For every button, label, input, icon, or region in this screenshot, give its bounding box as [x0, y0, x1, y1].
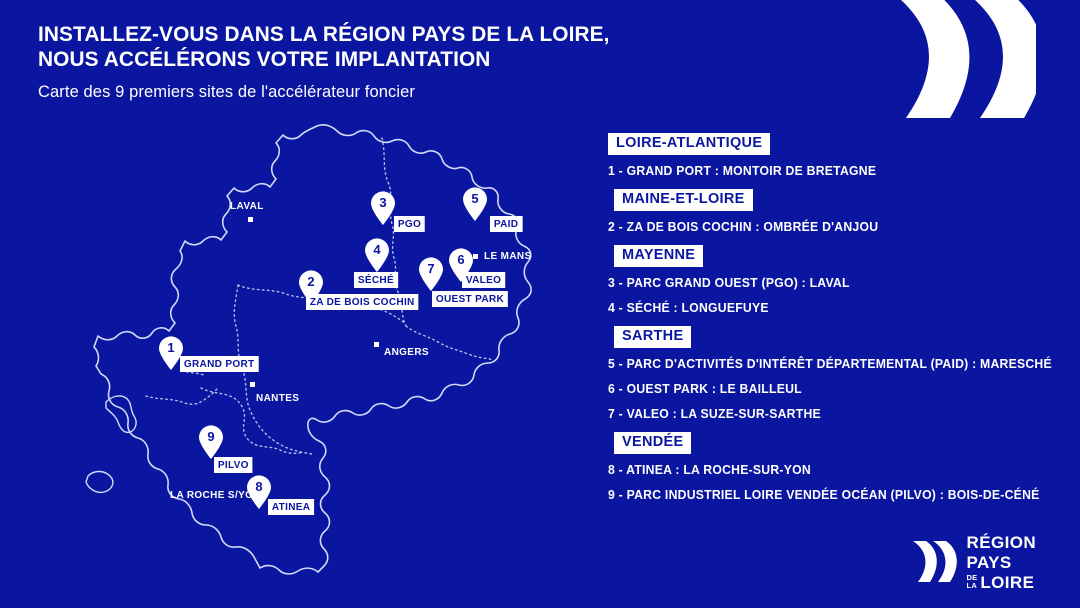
map-pin-4-number: 4 [364, 241, 390, 258]
logo-line-de-la-loire: DE LA LOIRE [967, 574, 1036, 591]
city-label-le-mans: LE MANS [484, 250, 532, 262]
logo-word-la: LA [967, 582, 978, 590]
corner-chevron-decoration [876, 0, 1036, 122]
double-chevron-icon [876, 0, 1036, 122]
dept-badge-mayenne: MAYENNE [614, 245, 703, 267]
city-label-angers: ANGERS [384, 346, 429, 358]
legend-group-mayenne: MAYENNE 3 - PARC GRAND OUEST (PGO) : LAV… [608, 245, 1048, 316]
legend-entry-6: 6 - OUEST PARK : LE BAILLEUL [608, 382, 1035, 397]
map-pin-6-number: 6 [448, 251, 474, 268]
legend-entry-4: 4 - SÉCHÉ : LONGUEFUYE [608, 301, 1035, 316]
city-dot-laval [248, 217, 253, 222]
map-pin-1-number: 1 [158, 339, 184, 356]
site-label-pilvo: PILVO [214, 457, 253, 473]
site-label-ouest-park: OUEST PARK [432, 291, 508, 307]
city-label-nantes: NANTES [256, 392, 299, 404]
legend-entry-3: 3 - PARC GRAND OUEST (PGO) : LAVAL [608, 276, 1035, 291]
map-pin-3-number: 3 [370, 194, 396, 211]
page-subtitle: Carte des 9 premiers sites de l'accéléra… [38, 82, 758, 102]
legend-entry-1: 1 - GRAND PORT : MONTOIR DE BRETAGNE [608, 164, 1035, 179]
map-pin-3[interactable]: 3 [370, 191, 396, 225]
legend-group-maine-et-loire: MAINE-ET-LOIRE 2 - ZA DE BOIS COCHIN : O… [608, 189, 1048, 235]
logo-text: RÉGION PAYS DE LA LOIRE [967, 534, 1036, 591]
logo-line-pays: PAYS [967, 554, 1036, 571]
legend-entry-7: 7 - VALEO : LA SUZE-SUR-SARTHE [608, 407, 1035, 422]
map-pin-5[interactable]: 5 [462, 187, 488, 221]
legend-group-loire-atlantique: LOIRE-ATLANTIQUE 1 - GRAND PORT : MONTOI… [608, 133, 1048, 179]
site-label-grand-port: GRAND PORT [180, 356, 258, 372]
map-pin-8-number: 8 [246, 478, 272, 495]
logo-de-la: DE LA [967, 574, 978, 590]
city-dot-angers [374, 342, 379, 347]
map-pin-4[interactable]: 4 [364, 238, 390, 272]
map-pin-7-number: 7 [418, 260, 444, 277]
map-pin-7[interactable]: 7 [418, 257, 444, 291]
map-pin-9-number: 9 [198, 428, 224, 445]
legend-entry-5: 5 - PARC D'ACTIVITÉS D'INTÉRÊT DÉPARTEME… [608, 357, 1035, 372]
map-pin-5-number: 5 [462, 190, 488, 207]
site-label-atinea: ATINEA [268, 499, 314, 515]
site-label-pgo: PGO [394, 216, 425, 232]
dept-badge-loire-atlantique: LOIRE-ATLANTIQUE [608, 133, 770, 155]
site-label-za-de-bois-cochin: ZA DE BOIS COCHIN [306, 294, 418, 310]
page-title-line-2: NOUS ACCÉLÉRONS VOTRE IMPLANTATION [38, 47, 736, 72]
legend-group-sarthe: SARTHE 5 - PARC D'ACTIVITÉS D'INTÉRÊT DÉ… [608, 326, 1048, 422]
logo-word-loire: LOIRE [980, 574, 1034, 591]
legend-group-vendee: VENDÉE 8 - ATINEA : LA ROCHE-SUR-YON 9 -… [608, 432, 1048, 503]
site-label-paid: PAID [490, 216, 522, 232]
city-dot-nantes [250, 382, 255, 387]
header: INSTALLEZ-VOUS DANS LA RÉGION PAYS DE LA… [38, 22, 758, 102]
infographic-root: INSTALLEZ-VOUS DANS LA RÉGION PAYS DE LA… [0, 0, 1080, 608]
site-label-seche: SÉCHÉ [354, 272, 398, 288]
region-logo: RÉGION PAYS DE LA LOIRE [907, 534, 1036, 590]
legend: LOIRE-ATLANTIQUE 1 - GRAND PORT : MONTOI… [608, 133, 1048, 513]
map: LAVAL LE MANS ANGERS NANTES LA ROCHE S/Y… [86, 120, 586, 560]
dept-badge-maine-et-loire: MAINE-ET-LOIRE [614, 189, 753, 211]
map-pin-2-number: 2 [298, 273, 324, 290]
site-label-valeo: VALEO [462, 272, 505, 288]
logo-chevron-icon [907, 537, 957, 587]
city-label-laval: LAVAL [230, 200, 264, 212]
page-title-line-1: INSTALLEZ-VOUS DANS LA RÉGION PAYS DE LA… [38, 22, 736, 47]
legend-entry-2: 2 - ZA DE BOIS COCHIN : OMBRÉE D'ANJOU [608, 220, 1035, 235]
legend-entry-9: 9 - PARC INDUSTRIEL LOIRE VENDÉE OCÉAN (… [608, 488, 1035, 503]
map-pin-9[interactable]: 9 [198, 425, 224, 459]
dept-badge-vendee: VENDÉE [614, 432, 691, 454]
dept-badge-sarthe: SARTHE [614, 326, 691, 348]
legend-entry-8: 8 - ATINEA : LA ROCHE-SUR-YON [608, 463, 1035, 478]
logo-line-region: RÉGION [967, 534, 1036, 551]
